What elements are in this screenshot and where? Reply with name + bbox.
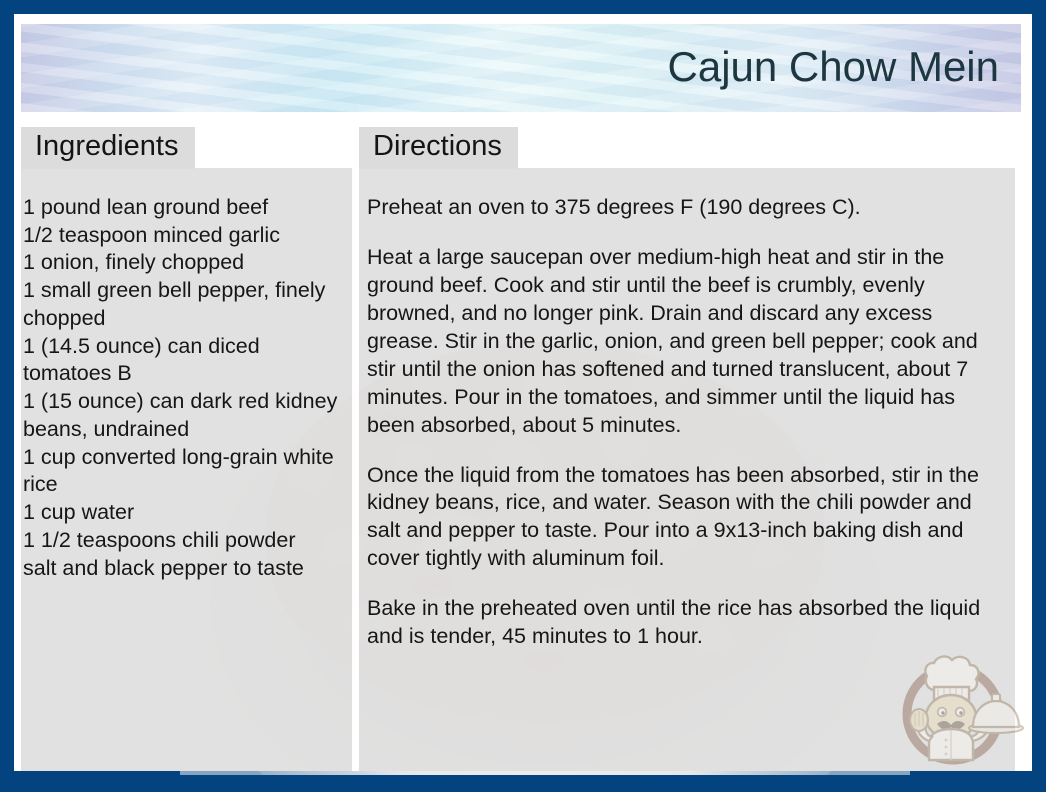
directions-heading-label: Directions xyxy=(373,130,502,162)
ingredients-heading-tab: Ingredients xyxy=(21,127,195,169)
header-banner: Cajun Chow Mein xyxy=(21,24,1021,112)
ingredients-heading-label: Ingredients xyxy=(35,130,179,162)
column-divider xyxy=(352,127,359,771)
direction-step: Heat a large saucepan over medium-high h… xyxy=(367,244,1001,440)
direction-step: Bake in the preheated oven until the ric… xyxy=(367,595,1001,651)
ingredients-list: 1 pound lean ground beef 1/2 teaspoon mi… xyxy=(23,194,342,582)
page-title: Cajun Chow Mein xyxy=(668,46,1000,88)
directions-heading-tab: Directions xyxy=(359,127,518,169)
direction-step: Preheat an oven to 375 degrees F (190 de… xyxy=(367,194,1001,222)
ingredients-panel: 1 pound lean ground beef 1/2 teaspoon mi… xyxy=(21,168,352,771)
directions-panel: Preheat an oven to 375 degrees F (190 de… xyxy=(359,168,1015,771)
direction-step: Once the liquid from the tomatoes has be… xyxy=(367,462,1001,574)
recipe-card: Cajun Chow Mein Ingredients 1 pound lean… xyxy=(0,0,1046,792)
